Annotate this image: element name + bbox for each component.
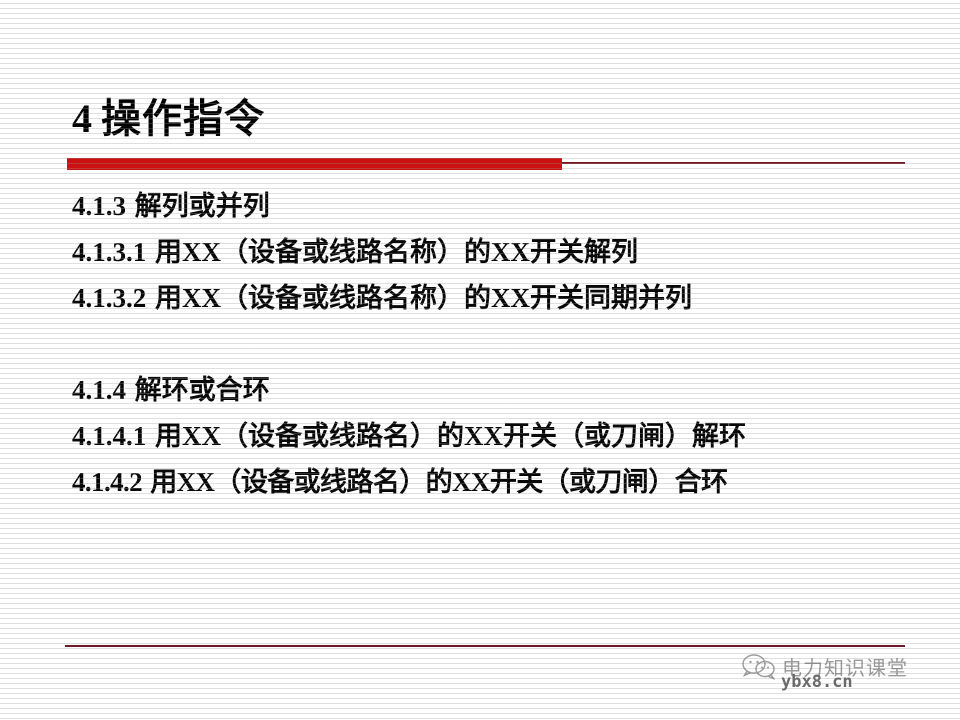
content-line-index: 4.1.4.1 (72, 421, 146, 451)
page-title-number: 4 (72, 96, 93, 141)
footer-divider (65, 645, 905, 647)
page-title-text: 操作指令 (101, 96, 265, 141)
site-watermark: ybx8.cn (781, 672, 853, 692)
content-line-4-1-4-2: 4.1.4.2 用XX（设备或线路名）的XX开关（或刀闸）合环 (72, 462, 932, 508)
content-line-index: 4.1.3.1 (72, 237, 146, 267)
content-line-text: 用XX（设备或线路名）的XX开关（或刀闸）解环 (155, 421, 746, 451)
page-title: 4操作指令 (72, 96, 265, 142)
wechat-icon (742, 653, 776, 681)
title-divider-accent-bar (67, 158, 562, 170)
content-line-index: 4.1.3 (72, 191, 126, 221)
content-line-4-1-3-2: 4.1.3.2 用XX（设备或线路名称）的XX开关同期并列 (72, 278, 932, 324)
content-line-text: 用XX（设备或线路名称）的XX开关同期并列 (155, 283, 692, 313)
content-line-text: 用XX（设备或线路名称）的XX开关解列 (155, 237, 638, 267)
content-line-4-1-3: 4.1.3 解列或并列 (72, 186, 932, 232)
content-line-text: 解列或并列 (135, 191, 270, 221)
content-line-4-1-4: 4.1.4 解环或合环 (72, 370, 932, 416)
content-line-4-1-4-1: 4.1.4.1 用XX（设备或线路名）的XX开关（或刀闸）解环 (72, 416, 932, 462)
content-line-text: 用XX（设备或线路名）的XX开关（或刀闸）合环 (150, 467, 727, 497)
content-line-text: 解环或合环 (135, 375, 270, 405)
content-line-index: 4.1.3.2 (72, 283, 146, 313)
slide-canvas: 4操作指令 4.1.3 解列或并列 4.1.3.1 用XX（设备或线路名称）的X… (0, 0, 960, 720)
content-line-index: 4.1.4.2 (72, 467, 142, 497)
content-line-index: 4.1.4 (72, 375, 126, 405)
content-line-blank (72, 324, 932, 370)
content-line-4-1-3-1: 4.1.3.1 用XX（设备或线路名称）的XX开关解列 (72, 232, 932, 278)
content-list: 4.1.3 解列或并列 4.1.3.1 用XX（设备或线路名称）的XX开关解列 … (72, 186, 932, 508)
